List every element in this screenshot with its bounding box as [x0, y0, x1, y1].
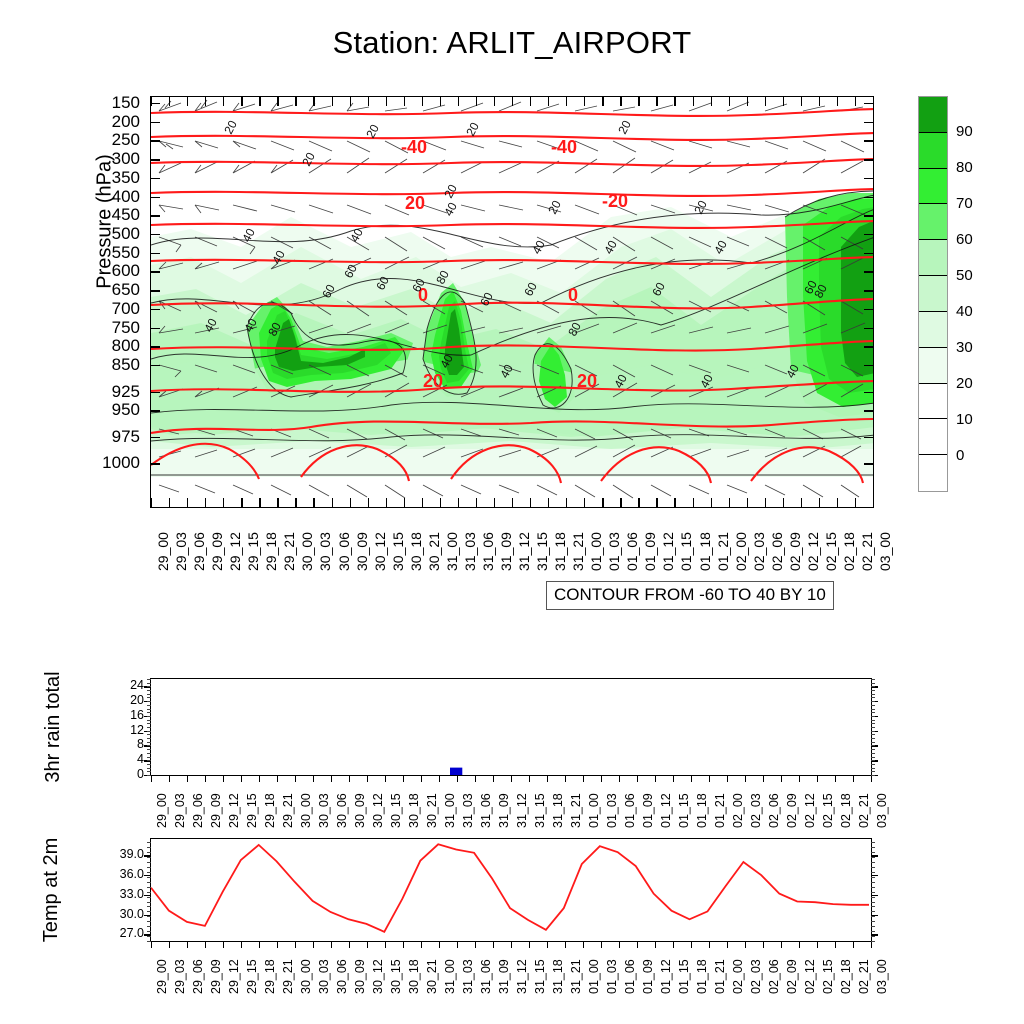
time-tick: [493, 941, 494, 948]
pressure-tick: [864, 215, 873, 216]
time-label: 30_21: [425, 793, 439, 828]
axis-minor-tick: [147, 842, 151, 843]
colorbar-tick-label: 20: [956, 375, 973, 392]
svg-text:20: 20: [577, 371, 597, 391]
time-tick: [693, 97, 694, 106]
time-tick: [169, 775, 170, 782]
time-tick: [331, 775, 332, 782]
time-tick: [871, 941, 872, 948]
axis-minor-tick: [871, 931, 875, 932]
pressure-tick: [864, 346, 873, 347]
rain-y-axis-labels: 04812162024: [86, 678, 144, 776]
colorbar-tick-label: 50: [956, 267, 973, 284]
time-label: 01_21: [715, 532, 731, 571]
time-tick: [711, 498, 712, 507]
time-tick: [493, 775, 494, 782]
pressure-tick: [151, 437, 160, 438]
time-tick: [819, 498, 820, 507]
axis-tick-label: 8: [86, 737, 144, 751]
time-label: 30_00: [299, 532, 315, 571]
time-tick: [747, 97, 748, 106]
rain-bars: [151, 679, 871, 775]
time-tick: [619, 941, 620, 948]
time-tick: [259, 775, 260, 782]
time-label: 31_18: [551, 793, 565, 828]
axis-minor-tick: [871, 764, 875, 765]
pressure-tick: [151, 463, 160, 464]
time-tick: [259, 498, 260, 507]
time-label: 29_12: [227, 532, 243, 571]
rain-bar: [450, 768, 462, 775]
time-tick: [350, 97, 351, 106]
pressure-tick: [151, 271, 160, 272]
axis-minor-tick: [147, 847, 151, 848]
axis-minor-tick: [147, 911, 151, 912]
pressure-tick: [151, 234, 160, 235]
pressure-tick: [864, 328, 873, 329]
time-tick: [439, 941, 440, 948]
time-label: 29_15: [245, 793, 259, 828]
time-tick: [349, 941, 350, 948]
time-tick: [511, 775, 512, 782]
time-label: 30_06: [335, 959, 349, 994]
time-tick: [404, 97, 405, 106]
pressure-tick-label: 975: [66, 427, 140, 447]
time-label: 30_12: [371, 793, 385, 828]
axis-minor-tick: [147, 892, 151, 893]
time-tick: [855, 97, 856, 106]
time-tick: [476, 97, 477, 106]
time-label: 02_06: [767, 793, 781, 828]
time-label: 30_15: [390, 532, 406, 571]
time-label: 01_03: [606, 532, 622, 571]
time-tick: [421, 941, 422, 948]
axis-tick-label: 39.0: [86, 847, 144, 861]
time-label: 30_18: [407, 793, 421, 828]
main-y-axis-labels: 1502002503003504004505005506006507007508…: [66, 96, 140, 508]
axis-minor-tick: [871, 872, 875, 873]
time-tick: [422, 97, 423, 106]
time-label: 02_15: [821, 793, 835, 828]
axis-tick-label: 20: [86, 693, 144, 707]
time-label: 02_03: [749, 793, 763, 828]
main-x-axis-labels: 29_0029_0329_0629_0929_1229_1529_1829_21…: [150, 515, 874, 585]
time-label: 29_03: [173, 532, 189, 571]
pressure-tick-label: 1000: [66, 453, 140, 473]
time-tick: [151, 775, 152, 782]
pressure-tick: [151, 140, 160, 141]
time-tick: [295, 941, 296, 948]
temp-y-axis-labels: 27.030.033.036.039.0: [78, 838, 144, 942]
time-tick: [151, 498, 152, 507]
time-label: 01_21: [713, 959, 727, 994]
time-tick: [223, 97, 224, 106]
axis-minor-tick: [147, 897, 151, 898]
pressure-tick-label: 600: [66, 261, 140, 281]
axis-minor-tick: [871, 921, 875, 922]
axis-minor-tick: [147, 753, 151, 754]
axis-minor-tick: [147, 727, 151, 728]
time-tick: [169, 498, 170, 507]
axis-minor-tick: [147, 882, 151, 883]
time-tick: [711, 97, 712, 106]
time-tick: [367, 941, 368, 948]
axis-minor-tick: [871, 882, 875, 883]
time-tick: [421, 775, 422, 782]
axis-minor-tick: [147, 921, 151, 922]
pressure-tick: [151, 159, 160, 160]
time-label: 01_15: [677, 959, 691, 994]
time-label: 01_21: [713, 793, 727, 828]
time-tick: [565, 775, 566, 782]
time-tick: [241, 775, 242, 782]
axis-minor-tick: [871, 911, 875, 912]
time-label: 02_18: [839, 793, 853, 828]
time-label: 29_00: [155, 959, 169, 994]
time-label: 30_06: [336, 532, 352, 571]
time-tick: [873, 97, 874, 106]
time-tick: [566, 498, 567, 507]
time-height-cross-section[interactable]: -40 -40 20 -20 0 0 20 20 20 20 20 20 20 …: [150, 96, 874, 508]
axis-tick-label: 16: [86, 708, 144, 722]
axis-minor-tick: [147, 872, 151, 873]
time-tick: [727, 775, 728, 782]
axis-minor-tick: [871, 892, 875, 893]
time-tick: [602, 97, 603, 106]
pressure-tick-label: 250: [66, 130, 140, 150]
time-label: 03_00: [875, 959, 889, 994]
time-label: 30_09: [353, 959, 367, 994]
pressure-tick-label: 550: [66, 243, 140, 263]
time-tick: [457, 941, 458, 948]
pressure-tick: [151, 122, 160, 123]
time-tick: [835, 941, 836, 948]
time-label: 02_15: [823, 532, 839, 571]
time-label: 30_18: [408, 532, 424, 571]
axis-minor-tick: [147, 775, 151, 776]
axis-tick-label: 36.0: [86, 867, 144, 881]
time-label: 29_21: [281, 959, 295, 994]
time-tick: [674, 498, 675, 507]
time-tick: [512, 498, 513, 507]
time-label: 29_09: [209, 532, 225, 571]
time-label: 29_18: [263, 959, 277, 994]
time-label: 29_12: [227, 959, 241, 994]
time-tick: [332, 498, 333, 507]
axis-minor-tick: [147, 941, 151, 942]
pressure-tick-label: 200: [66, 112, 140, 132]
axis-minor-tick: [871, 723, 875, 724]
time-label: 30_03: [317, 532, 333, 571]
time-tick: [187, 97, 188, 106]
axis-minor-tick: [147, 738, 151, 739]
time-label: 01_00: [587, 959, 601, 994]
time-tick: [223, 775, 224, 782]
time-label: 01_12: [659, 793, 673, 828]
axis-minor-tick: [147, 768, 151, 769]
time-label: 31_00: [444, 532, 460, 571]
rain-panel-title: 3hr rain total: [42, 637, 62, 817]
axis-minor-tick: [871, 852, 875, 853]
pressure-tick: [864, 234, 873, 235]
pressure-tick: [151, 103, 160, 104]
time-tick: [801, 97, 802, 106]
time-label: 01_15: [678, 532, 694, 571]
svg-text:20: 20: [299, 150, 318, 169]
pressure-tick: [864, 140, 873, 141]
svg-text:20: 20: [615, 118, 634, 137]
time-tick: [637, 775, 638, 782]
pressure-tick: [864, 271, 873, 272]
pressure-tick-label: 300: [66, 149, 140, 169]
time-label: 29_21: [281, 793, 295, 828]
pressure-tick-label: 925: [66, 382, 140, 402]
time-label: 29_09: [209, 793, 223, 828]
pressure-tick-label: 750: [66, 318, 140, 338]
colorbar-tick-label: 0: [956, 447, 964, 464]
time-tick: [205, 97, 206, 106]
axis-minor-tick: [871, 857, 875, 858]
pressure-tick: [864, 253, 873, 254]
axis-minor-tick: [147, 742, 151, 743]
time-label: 29_06: [191, 959, 205, 994]
pressure-tick-label: 150: [66, 93, 140, 113]
time-tick: [277, 941, 278, 948]
time-label: 31_06: [479, 959, 493, 994]
time-tick: [458, 97, 459, 106]
time-tick: [494, 97, 495, 106]
page-title: Station: ARLIT_AIRPORT: [0, 25, 1024, 61]
axis-minor-tick: [147, 757, 151, 758]
axis-minor-tick: [871, 897, 875, 898]
time-tick: [853, 941, 854, 948]
time-label: 30_18: [407, 959, 421, 994]
axis-minor-tick: [147, 697, 151, 698]
pressure-tick-label: 800: [66, 336, 140, 356]
axis-minor-tick: [147, 852, 151, 853]
time-tick: [783, 97, 784, 106]
time-tick: [457, 775, 458, 782]
time-tick: [368, 97, 369, 106]
pressure-tick: [151, 309, 160, 310]
time-tick: [205, 775, 206, 782]
time-tick: [313, 775, 314, 782]
time-label: 31_09: [498, 532, 514, 571]
time-tick: [223, 941, 224, 948]
time-tick: [709, 775, 710, 782]
colorbar-tick-label: 40: [956, 303, 973, 320]
time-tick: [763, 775, 764, 782]
axis-minor-tick: [147, 862, 151, 863]
pressure-tick: [151, 328, 160, 329]
axis-minor-tick: [871, 679, 875, 680]
time-tick: [223, 498, 224, 507]
pressure-tick: [864, 103, 873, 104]
time-tick: [476, 498, 477, 507]
time-tick: [385, 775, 386, 782]
pressure-tick: [864, 178, 873, 179]
temp-chart[interactable]: [150, 838, 872, 942]
axis-minor-tick: [147, 926, 151, 927]
axis-minor-tick: [147, 877, 151, 878]
time-label: 30_06: [335, 793, 349, 828]
pressure-tick: [864, 309, 873, 310]
time-label: 31_00: [443, 959, 457, 994]
time-label: 29_06: [191, 793, 205, 828]
time-tick: [583, 941, 584, 948]
time-tick: [403, 941, 404, 948]
time-label: 01_15: [677, 793, 691, 828]
axis-minor-tick: [871, 749, 875, 750]
time-tick: [547, 775, 548, 782]
axis-minor-tick: [147, 694, 151, 695]
time-label: 01_00: [587, 793, 601, 828]
time-tick: [765, 97, 766, 106]
pressure-tick: [864, 392, 873, 393]
axis-minor-tick: [871, 887, 875, 888]
time-tick: [673, 775, 674, 782]
time-label: 01_12: [659, 959, 673, 994]
time-label: 31_00: [443, 793, 457, 828]
time-tick: [259, 941, 260, 948]
axis-tick-label: 30.0: [86, 907, 144, 921]
time-tick: [781, 775, 782, 782]
time-tick: [494, 498, 495, 507]
time-tick: [673, 941, 674, 948]
contour-range-note: CONTOUR FROM -60 TO 40 BY 10: [546, 581, 834, 610]
axis-tick-label: 12: [86, 723, 144, 737]
time-label: 02_09: [787, 532, 803, 571]
time-label: 29_06: [191, 532, 207, 571]
time-tick: [187, 775, 188, 782]
time-label: 03_00: [877, 532, 893, 571]
time-tick: [765, 498, 766, 507]
axis-minor-tick: [147, 902, 151, 903]
time-label: 31_03: [462, 532, 478, 571]
time-tick: [458, 498, 459, 507]
time-tick: [729, 498, 730, 507]
time-tick: [295, 775, 296, 782]
pressure-tick: [151, 346, 160, 347]
pressure-tick: [864, 122, 873, 123]
time-tick: [530, 498, 531, 507]
time-label: 31_15: [533, 959, 547, 994]
time-tick: [440, 498, 441, 507]
axis-minor-tick: [871, 694, 875, 695]
pressure-tick: [864, 437, 873, 438]
axis-minor-tick: [871, 716, 875, 717]
time-tick: [350, 498, 351, 507]
time-tick: [529, 775, 530, 782]
time-tick: [295, 97, 296, 106]
pressure-tick: [151, 410, 160, 411]
axis-minor-tick: [147, 760, 151, 761]
time-tick: [331, 941, 332, 948]
time-tick: [511, 941, 512, 948]
pressure-tick: [864, 410, 873, 411]
axis-minor-tick: [871, 753, 875, 754]
time-label: 29_15: [245, 532, 261, 571]
pressure-tick: [864, 159, 873, 160]
time-tick: [691, 775, 692, 782]
axis-minor-tick: [871, 712, 875, 713]
temp-line: [151, 839, 871, 941]
rain-chart[interactable]: [150, 678, 872, 776]
time-label: 31_12: [515, 793, 529, 828]
time-label: 02_12: [803, 959, 817, 994]
time-label: 02_03: [749, 959, 763, 994]
time-tick: [548, 498, 549, 507]
time-tick: [656, 97, 657, 106]
axis-minor-tick: [147, 745, 151, 746]
pressure-tick: [864, 365, 873, 366]
svg-text:20: 20: [441, 182, 460, 201]
axis-tick-label: 0: [86, 767, 144, 781]
svg-text:20: 20: [405, 193, 425, 213]
time-label: 02_21: [857, 793, 871, 828]
time-label: 02_00: [731, 793, 745, 828]
time-label: 01_00: [588, 532, 604, 571]
time-tick: [602, 498, 603, 507]
time-tick: [439, 775, 440, 782]
axis-minor-tick: [147, 731, 151, 732]
axis-minor-tick: [871, 742, 875, 743]
axis-minor-tick: [871, 697, 875, 698]
time-tick: [349, 775, 350, 782]
axis-minor-tick: [871, 731, 875, 732]
time-tick: [853, 775, 854, 782]
colorbar-tick-label: 30: [956, 339, 973, 356]
time-tick: [799, 941, 800, 948]
time-label: 31_15: [533, 793, 547, 828]
time-tick: [620, 97, 621, 106]
time-tick: [295, 498, 296, 507]
axis-minor-tick: [871, 690, 875, 691]
time-tick: [512, 97, 513, 106]
time-tick: [187, 498, 188, 507]
time-tick: [637, 941, 638, 948]
axis-minor-tick: [147, 690, 151, 691]
time-tick: [601, 775, 602, 782]
time-label: 02_00: [731, 959, 745, 994]
time-tick: [837, 97, 838, 106]
pressure-tick-label: 400: [66, 187, 140, 207]
colorbar-tick-label: 80: [956, 159, 973, 176]
pressure-tick-label: 350: [66, 168, 140, 188]
axis-minor-tick: [871, 936, 875, 937]
time-tick: [529, 941, 530, 948]
axis-minor-tick: [871, 842, 875, 843]
svg-text:40: 40: [529, 238, 548, 257]
time-label: 31_21: [569, 793, 583, 828]
time-label: 02_09: [785, 959, 799, 994]
time-tick: [259, 97, 260, 106]
time-tick: [565, 941, 566, 948]
pressure-tick-label: 850: [66, 355, 140, 375]
axis-minor-tick: [147, 701, 151, 702]
axis-minor-tick: [871, 941, 875, 942]
time-tick: [169, 97, 170, 106]
time-label: 30_15: [389, 959, 403, 994]
axis-minor-tick: [147, 764, 151, 765]
pressure-tick-label: 450: [66, 205, 140, 225]
time-label: 02_12: [803, 793, 817, 828]
time-tick: [584, 97, 585, 106]
time-label: 01_09: [642, 532, 658, 571]
axis-minor-tick: [871, 709, 875, 710]
axis-minor-tick: [871, 705, 875, 706]
time-label: 31_21: [570, 532, 586, 571]
